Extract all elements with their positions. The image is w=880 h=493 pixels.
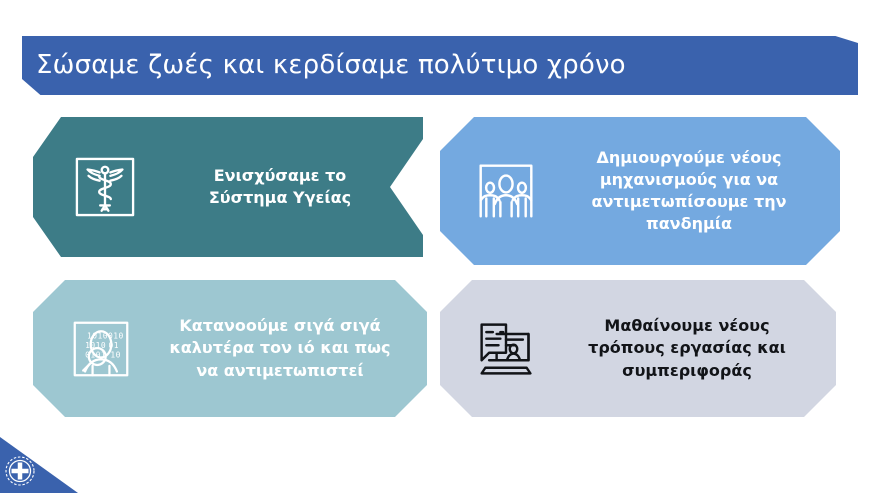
card-understanding-virus[interactable]: 1010010 1010 01 0101 10 Κατανοούμε σιγά … xyxy=(33,280,427,417)
card-label: Ενισχύσαμε το Σύστημα Υγείας xyxy=(141,165,423,209)
card-label-line: Δημιουργούμε νέους xyxy=(596,148,781,167)
card-label-line: τρόπους εργασίας και xyxy=(588,338,786,357)
slide-title-banner: Σώσαμε ζωές και κερδίσαμε πολύτιμο χρόνο xyxy=(22,36,858,95)
card-label: Μαθαίνουμε νέους τρόπους εργασίας και συ… xyxy=(542,315,836,381)
svg-text:1010010: 1010010 xyxy=(87,331,124,340)
card-label-line: μηχανισμούς για να xyxy=(600,170,778,189)
footer-corner-mark xyxy=(0,437,78,493)
card-label-line: Σύστημα Υγείας xyxy=(209,188,351,207)
card-label: Κατανοούμε σιγά σιγά καλυτέρα τον ιό και… xyxy=(137,315,427,381)
page-title: Σώσαμε ζωές και κερδίσαμε πολύτιμο χρόνο xyxy=(22,51,626,80)
svg-text:01: 01 xyxy=(109,341,120,350)
card-label-line: Ενισχύσαμε το xyxy=(214,166,347,185)
person-data-analysis-icon: 1010010 1010 01 0101 10 xyxy=(65,313,137,385)
card-new-ways-of-working[interactable]: Μαθαίνουμε νέους τρόπους εργασίας και συ… xyxy=(440,280,836,417)
svg-text:10: 10 xyxy=(110,350,121,359)
caduceus-icon xyxy=(69,151,141,223)
people-group-icon xyxy=(470,155,542,227)
card-label-line: πανδημία xyxy=(646,214,732,233)
card-label-line: καλυτέρα τον ιό και πως xyxy=(169,338,390,357)
card-label-line: Μαθαίνουμε νέους xyxy=(604,316,769,335)
card-label-line: αντιμετωπίσουμε την xyxy=(591,192,786,211)
laptop-elearning-icon xyxy=(470,313,542,385)
hellenic-republic-emblem-icon xyxy=(4,455,36,487)
card-label-line: συμπεριφοράς xyxy=(622,361,752,380)
card-label: Δημιουργούμε νέους μηχανισμούς για να αν… xyxy=(542,147,840,235)
slide-canvas: Σώσαμε ζωές και κερδίσαμε πολύτιμο χρόνο xyxy=(0,0,880,493)
card-label-line: Κατανοούμε σιγά σιγά xyxy=(179,316,380,335)
card-new-mechanisms[interactable]: Δημιουργούμε νέους μηχανισμούς για να αν… xyxy=(440,117,840,265)
card-grid: Ενισχύσαμε το Σύστημα Υγείας xyxy=(0,117,880,420)
card-label-line: να αντιμετωπιστεί xyxy=(196,361,363,380)
card-health-system[interactable]: Ενισχύσαμε το Σύστημα Υγείας xyxy=(33,117,423,257)
